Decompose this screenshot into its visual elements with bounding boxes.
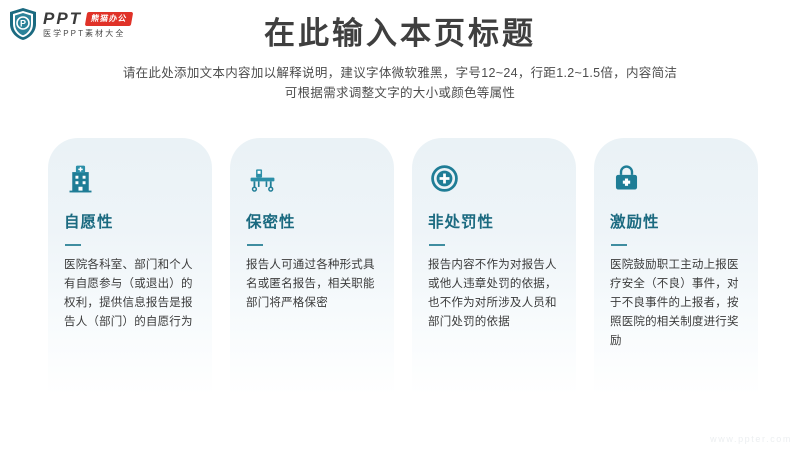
card-body-text: 医院鼓励职工主动上报医疗安全（不良）事件，对于不良事件的上报者，按照医院的相关制… bbox=[610, 256, 742, 351]
card-divider bbox=[429, 244, 445, 246]
site-watermark: www.ppter.com bbox=[710, 434, 792, 444]
page-title: 在此输入本页标题 bbox=[0, 14, 800, 54]
card-icon-slot bbox=[610, 160, 742, 200]
card-divider bbox=[611, 244, 627, 246]
feature-card[interactable]: 非处罚性 报告内容不作为对报告人或他人违章处罚的依据，也不作为对所涉及人员和部门… bbox=[412, 138, 576, 396]
feature-card-row: 自愿性 医院各科室、部门和个人有自愿参与（或退出）的权利，提供信息报告是报告人（… bbox=[48, 138, 760, 398]
card-title: 保密性 bbox=[246, 214, 378, 233]
hospital-bed-icon bbox=[246, 162, 279, 200]
card-title: 非处罚性 bbox=[428, 214, 560, 233]
feature-card[interactable]: 保密性 报告人可通过各种形式具名或匿名报告，相关职能部门将严格保密 bbox=[230, 138, 394, 396]
hospital-building-icon bbox=[64, 162, 97, 200]
feature-card[interactable]: 激励性 医院鼓励职工主动上报医疗安全（不良）事件，对于不良事件的上报者，按照医院… bbox=[594, 138, 758, 396]
card-title: 自愿性 bbox=[64, 214, 196, 233]
page-subtitle-line-2: 可根据需求调整文字的大小或颜色等属性 bbox=[0, 83, 800, 103]
card-divider bbox=[65, 244, 81, 246]
medical-kit-icon bbox=[610, 162, 643, 200]
medical-cross-circle-icon bbox=[428, 162, 461, 200]
feature-card[interactable]: 自愿性 医院各科室、部门和个人有自愿参与（或退出）的权利，提供信息报告是报告人（… bbox=[48, 138, 212, 396]
card-title: 激励性 bbox=[610, 214, 742, 233]
card-body-text: 报告内容不作为对报告人或他人违章处罚的依据，也不作为对所涉及人员和部门处罚的依据 bbox=[428, 256, 560, 332]
page-subtitle: 请在此处添加文本内容加以解释说明，建议字体微软雅黑，字号12~24，行距1.2~… bbox=[0, 63, 800, 103]
card-body-text: 报告人可通过各种形式具名或匿名报告，相关职能部门将严格保密 bbox=[246, 256, 378, 313]
card-divider bbox=[247, 244, 263, 246]
card-icon-slot bbox=[428, 160, 560, 200]
page-subtitle-line-1: 请在此处添加文本内容加以解释说明，建议字体微软雅黑，字号12~24，行距1.2~… bbox=[0, 63, 800, 83]
card-icon-slot bbox=[246, 160, 378, 200]
card-icon-slot bbox=[64, 160, 196, 200]
card-body-text: 医院各科室、部门和个人有自愿参与（或退出）的权利，提供信息报告是报告人（部门）的… bbox=[64, 256, 196, 332]
